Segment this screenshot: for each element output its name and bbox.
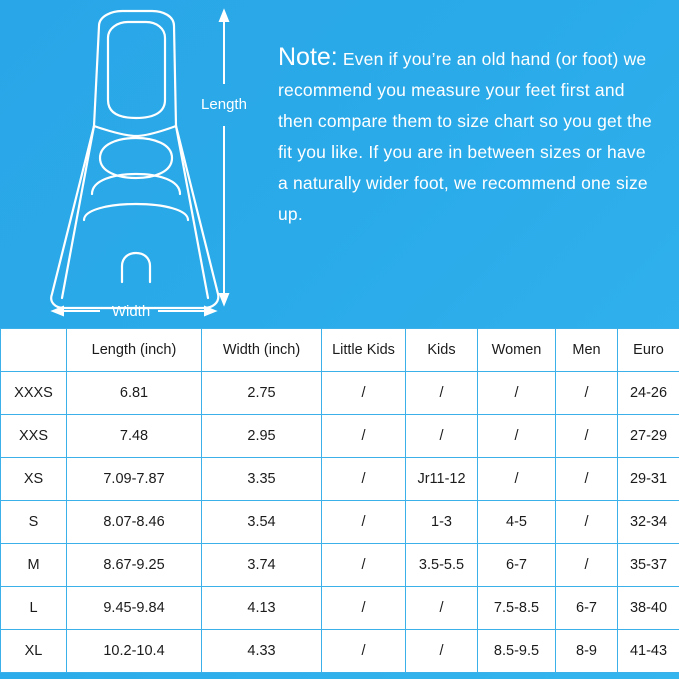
table-row: XXXS 6.81 2.75 / / / / 24-26 — [1, 372, 679, 415]
note-lead: Note: — [278, 43, 338, 71]
cell-size: L — [1, 587, 67, 630]
cell-width: 2.95 — [202, 415, 322, 458]
cell-women: / — [478, 372, 556, 415]
cell-euro: 27-29 — [618, 415, 679, 458]
table-row: M 8.67-9.25 3.74 / 3.5-5.5 6-7 / 35-37 — [1, 544, 679, 587]
cell-width: 4.13 — [202, 587, 322, 630]
note-body: Even if you’re an old hand (or foot) we … — [278, 49, 652, 224]
cell-kids: / — [406, 415, 478, 458]
header-cell-euro: Euro — [618, 329, 679, 372]
cell-little-kids: / — [322, 458, 406, 501]
size-table: Length (inch) Width (inch) Little Kids K… — [0, 328, 679, 673]
cell-little-kids: / — [322, 544, 406, 587]
table-row: XS 7.09-7.87 3.35 / Jr11-12 / / 29-31 — [1, 458, 679, 501]
cell-women: 7.5-8.5 — [478, 587, 556, 630]
cell-length: 8.07-8.46 — [67, 501, 202, 544]
fin-shoulder-line — [94, 126, 176, 136]
cell-kids: Jr11-12 — [406, 458, 478, 501]
cell-size: S — [1, 501, 67, 544]
cell-women: / — [478, 458, 556, 501]
cell-kids: 3.5-5.5 — [406, 544, 478, 587]
cell-little-kids: / — [322, 501, 406, 544]
width-label: Width — [112, 303, 150, 318]
cell-euro: 29-31 — [618, 458, 679, 501]
table-row: L 9.45-9.84 4.13 / / 7.5-8.5 6-7 38-40 — [1, 587, 679, 630]
cell-men: / — [556, 544, 618, 587]
size-chart-page: Length Width Note: Even if you’re an old… — [0, 0, 679, 679]
cell-width: 2.75 — [202, 372, 322, 415]
cell-euro: 41-43 — [618, 630, 679, 673]
cell-length: 6.81 — [67, 372, 202, 415]
cell-kids: 1-3 — [406, 501, 478, 544]
header-cell-men: Men — [556, 329, 618, 372]
header-cell-little-kids: Little Kids — [322, 329, 406, 372]
cell-men: 8-9 — [556, 630, 618, 673]
length-measure-line — [220, 11, 228, 304]
header-cell-length: Length (inch) — [67, 329, 202, 372]
header-cell-women: Women — [478, 329, 556, 372]
cell-size: M — [1, 544, 67, 587]
fin-heel-tab — [122, 253, 150, 282]
cell-men: / — [556, 458, 618, 501]
cell-size: XXS — [1, 415, 67, 458]
cell-size: XXXS — [1, 372, 67, 415]
cell-little-kids: / — [322, 372, 406, 415]
cell-euro: 24-26 — [618, 372, 679, 415]
fin-outline — [51, 11, 218, 308]
cell-euro: 38-40 — [618, 587, 679, 630]
header-cell-width: Width (inch) — [202, 329, 322, 372]
cell-men: 6-7 — [556, 587, 618, 630]
table-header-row: Length (inch) Width (inch) Little Kids K… — [1, 329, 679, 372]
cell-women: 8.5-9.5 — [478, 630, 556, 673]
cell-men: / — [556, 415, 618, 458]
cell-euro: 35-37 — [618, 544, 679, 587]
cell-kids: / — [406, 372, 478, 415]
cell-women: / — [478, 415, 556, 458]
header-cell-kids: Kids — [406, 329, 478, 372]
cell-length: 9.45-9.84 — [67, 587, 202, 630]
cell-kids: / — [406, 630, 478, 673]
cell-length: 10.2-10.4 — [67, 630, 202, 673]
cell-size: XS — [1, 458, 67, 501]
swim-fin-diagram: Length Width — [36, 8, 266, 318]
cell-little-kids: / — [322, 415, 406, 458]
cell-width: 3.74 — [202, 544, 322, 587]
table-row: S 8.07-8.46 3.54 / 1-3 4-5 / 32-34 — [1, 501, 679, 544]
cell-women: 4-5 — [478, 501, 556, 544]
cell-length: 8.67-9.25 — [67, 544, 202, 587]
cell-width: 4.33 — [202, 630, 322, 673]
cell-little-kids: / — [322, 587, 406, 630]
header-cell-size — [1, 329, 67, 372]
table-row: XL 10.2-10.4 4.33 / / 8.5-9.5 8-9 41-43 — [1, 630, 679, 673]
cell-little-kids: / — [322, 630, 406, 673]
foot-pocket-opening — [108, 22, 165, 118]
cell-men: / — [556, 501, 618, 544]
cell-length: 7.09-7.87 — [67, 458, 202, 501]
top-section: Length Width Note: Even if you’re an old… — [0, 0, 679, 328]
cell-men: / — [556, 372, 618, 415]
cell-width: 3.54 — [202, 501, 322, 544]
cell-kids: / — [406, 587, 478, 630]
cell-width: 3.35 — [202, 458, 322, 501]
cell-length: 7.48 — [67, 415, 202, 458]
fin-arch-line — [84, 204, 188, 220]
table-row: XXS 7.48 2.95 / / / / 27-29 — [1, 415, 679, 458]
fin-rib-upper — [100, 138, 172, 178]
note-block: Note: Even if you’re an old hand (or foo… — [278, 42, 658, 230]
cell-size: XL — [1, 630, 67, 673]
cell-euro: 32-34 — [618, 501, 679, 544]
cell-women: 6-7 — [478, 544, 556, 587]
length-label: Length — [201, 96, 247, 113]
size-table-wrapper: Length (inch) Width (inch) Little Kids K… — [0, 328, 679, 679]
